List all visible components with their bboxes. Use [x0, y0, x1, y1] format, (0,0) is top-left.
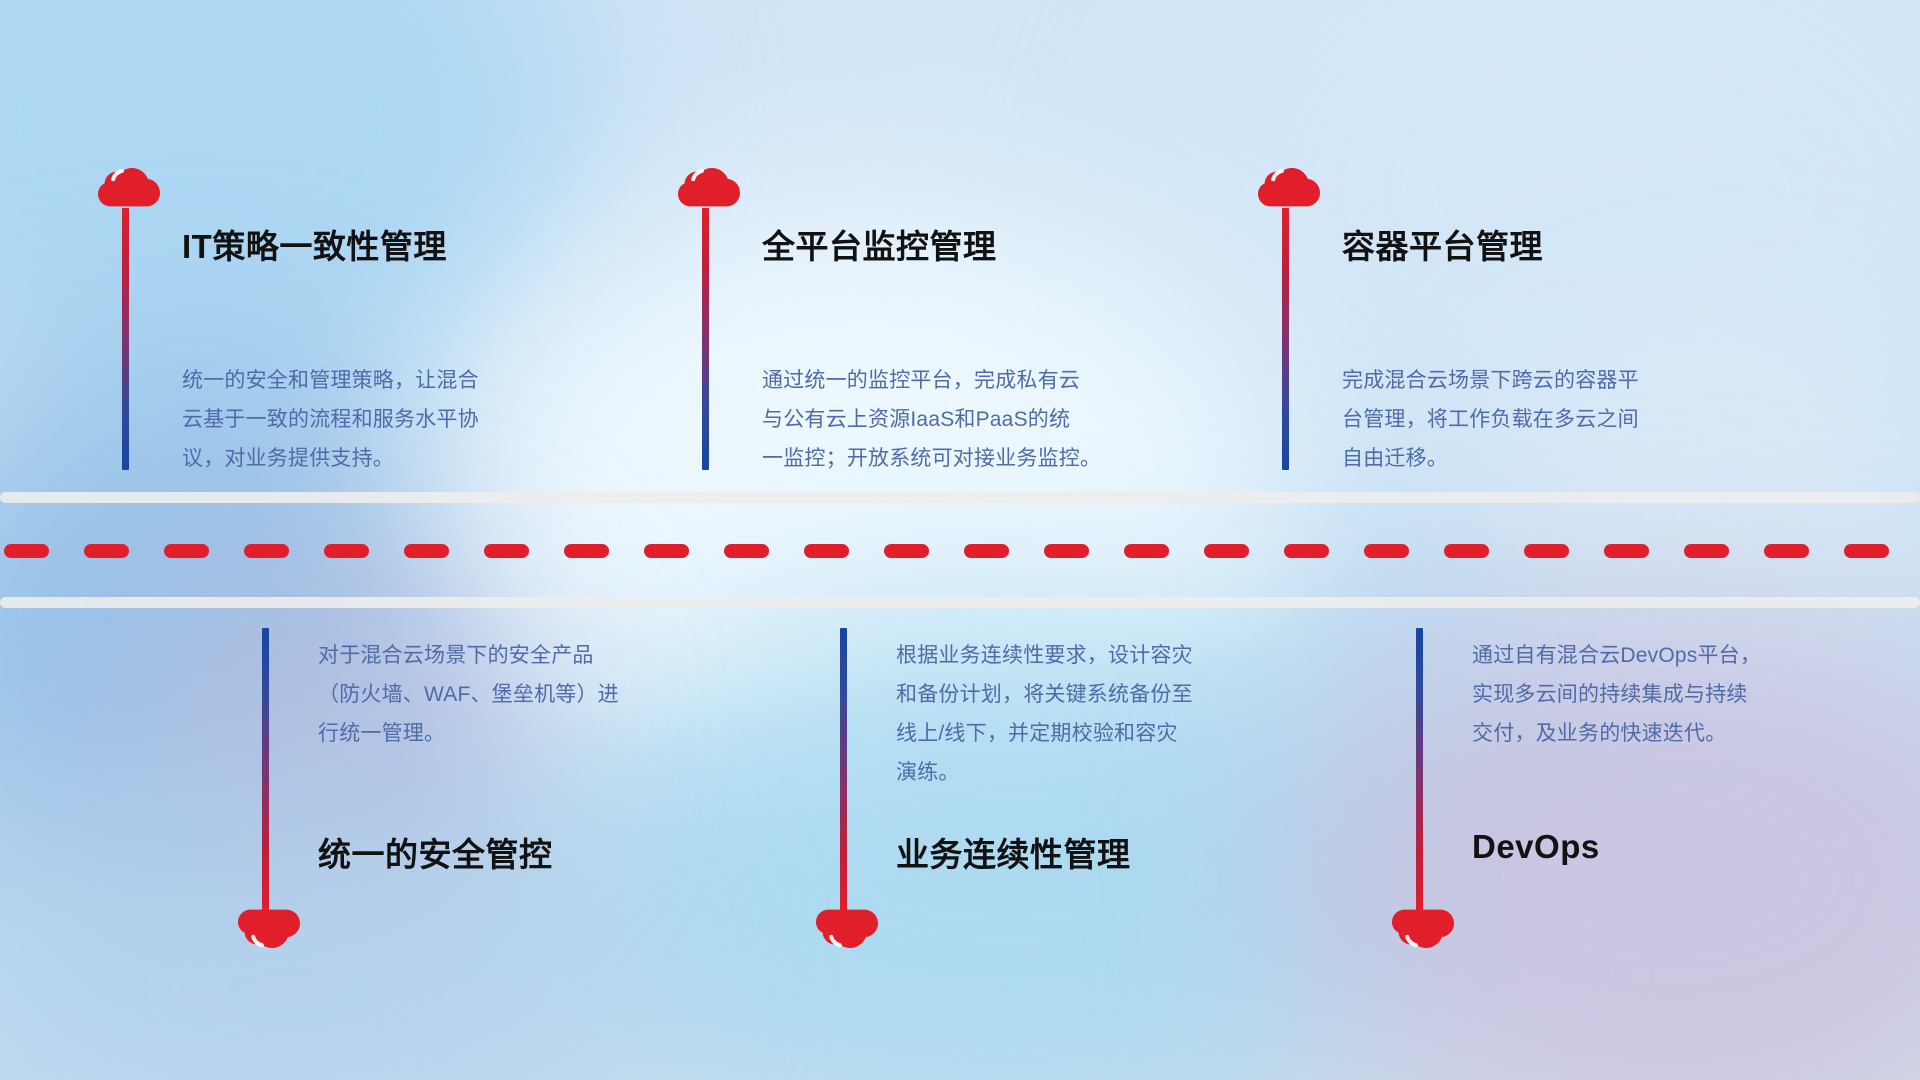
- divider-dash: [804, 544, 849, 558]
- body-line: 完成混合云场景下跨云的容器平: [1342, 362, 1762, 401]
- body-line: 议，对业务提供支持。: [182, 440, 602, 479]
- timeline-stem: [840, 628, 847, 913]
- body-line: 线上/线下，并定期校验和容灾: [896, 715, 1316, 754]
- divider-dash: [884, 544, 929, 558]
- bottom-column-1-title: 统一的安全管控: [318, 828, 553, 876]
- divider-dashed-line: [0, 544, 1920, 558]
- cloud-icon: [238, 903, 300, 953]
- top-column-3-title: 容器平台管理: [1342, 220, 1543, 268]
- timeline-stem: [1416, 628, 1423, 913]
- bottom-column-3-title: DevOps: [1472, 828, 1600, 866]
- body-line: 对于混合云场景下的安全产品: [318, 637, 738, 676]
- divider-dash: [1204, 544, 1249, 558]
- cloud-icon: [816, 903, 878, 953]
- body-line: 台管理，将工作负载在多云之间: [1342, 401, 1762, 440]
- body-line: 一监控；开放系统可对接业务监控。: [762, 440, 1182, 479]
- body-line: 自由迁移。: [1342, 440, 1762, 479]
- timeline-stem: [702, 208, 709, 470]
- body-line: 统一的安全和管理策略，让混合: [182, 362, 602, 401]
- timeline-stem: [1282, 208, 1289, 470]
- top-column-2-title: 全平台监控管理: [762, 220, 997, 268]
- body-line: 通过自有混合云DevOps平台，: [1472, 637, 1892, 676]
- divider-dash: [1124, 544, 1169, 558]
- top-column-1-body: 统一的安全和管理策略，让混合 云基于一致的流程和服务水平协 议，对业务提供支持。: [182, 362, 602, 479]
- cloud-icon: [1258, 163, 1320, 213]
- bottom-column-1-body: 对于混合云场景下的安全产品 （防火墙、WAF、堡垒机等）进 行统一管理。: [318, 637, 738, 754]
- body-line: 云基于一致的流程和服务水平协: [182, 401, 602, 440]
- top-column-1-title: IT策略一致性管理: [182, 220, 447, 268]
- divider-dash: [1044, 544, 1089, 558]
- divider-dash: [1844, 544, 1889, 558]
- top-column-3-body: 完成混合云场景下跨云的容器平 台管理，将工作负载在多云之间 自由迁移。: [1342, 362, 1762, 479]
- body-line: 交付，及业务的快速迭代。: [1472, 715, 1892, 754]
- top-column-2-body: 通过统一的监控平台，完成私有云 与公有云上资源IaaS和PaaS的统 一监控；开…: [762, 362, 1182, 479]
- divider-dash: [1364, 544, 1409, 558]
- divider-dash: [644, 544, 689, 558]
- divider-rule-bottom: [0, 597, 1920, 608]
- divider-rule-top: [0, 492, 1920, 503]
- infographic-canvas: IT策略一致性管理 统一的安全和管理策略，让混合 云基于一致的流程和服务水平协 …: [0, 0, 1920, 1080]
- divider-dash: [4, 544, 49, 558]
- body-line: 通过统一的监控平台，完成私有云: [762, 362, 1182, 401]
- divider-dash: [484, 544, 529, 558]
- divider-dash: [1524, 544, 1569, 558]
- divider-dash: [724, 544, 769, 558]
- cloud-icon: [678, 163, 740, 213]
- bottom-column-2-body: 根据业务连续性要求，设计容灾 和备份计划，将关键系统备份至 线上/线下，并定期校…: [896, 637, 1316, 792]
- body-line: 与公有云上资源IaaS和PaaS的统: [762, 401, 1182, 440]
- body-line: （防火墙、WAF、堡垒机等）进: [318, 676, 738, 715]
- divider-dash: [564, 544, 609, 558]
- divider-dash: [1604, 544, 1649, 558]
- bottom-column-2-title: 业务连续性管理: [896, 828, 1131, 876]
- timeline-stem: [122, 208, 129, 470]
- cloud-icon: [98, 163, 160, 213]
- timeline-stem: [262, 628, 269, 913]
- divider-dash: [244, 544, 289, 558]
- bottom-column-3-body: 通过自有混合云DevOps平台， 实现多云间的持续集成与持续 交付，及业务的快速…: [1472, 637, 1892, 754]
- body-line: 行统一管理。: [318, 715, 738, 754]
- body-line: 实现多云间的持续集成与持续: [1472, 676, 1892, 715]
- divider-dash: [1284, 544, 1329, 558]
- divider-dash: [1764, 544, 1809, 558]
- cloud-icon: [1392, 903, 1454, 953]
- body-line: 演练。: [896, 754, 1316, 793]
- divider-dash: [324, 544, 369, 558]
- divider-dash: [164, 544, 209, 558]
- divider-dash: [404, 544, 449, 558]
- body-line: 和备份计划，将关键系统备份至: [896, 676, 1316, 715]
- divider-dash: [1684, 544, 1729, 558]
- divider-dash: [84, 544, 129, 558]
- divider-dash: [964, 544, 1009, 558]
- divider-dash: [1444, 544, 1489, 558]
- body-line: 根据业务连续性要求，设计容灾: [896, 637, 1316, 676]
